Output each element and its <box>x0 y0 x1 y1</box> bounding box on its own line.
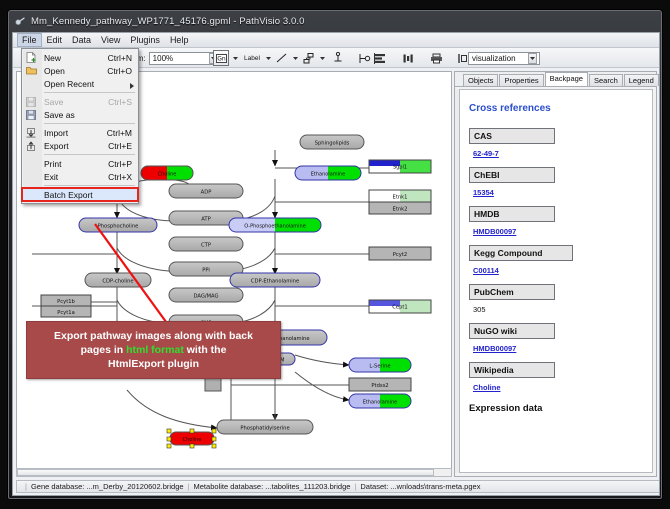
tab-backpage[interactable]: Backpage <box>545 72 588 86</box>
label-dropdown-icon[interactable] <box>265 52 272 64</box>
menu-item-export[interactable]: Export Ctrl+E <box>22 139 138 152</box>
tab-objects[interactable]: Objects <box>463 74 498 86</box>
status-bar: | Gene database: ...m_Derby_20120602.bri… <box>16 480 660 493</box>
canvas-hscrollbar[interactable] <box>16 468 452 477</box>
export-icon <box>25 140 37 151</box>
chevron-right-icon <box>130 81 134 91</box>
line-tool-icon[interactable] <box>275 51 289 65</box>
zoom-combo[interactable]: 100% <box>149 52 221 65</box>
menu-item-export-label: Export <box>44 141 108 151</box>
selection-handles: Choline <box>167 429 216 448</box>
menu-item-save-accel: Ctrl+S <box>108 97 138 107</box>
menu-item-export-accel: Ctrl+E <box>108 141 138 151</box>
menu-item-batch-export[interactable]: Batch Export <box>22 188 138 201</box>
svg-text:CTP: CTP <box>201 243 211 249</box>
gene-cept1: Cept1 <box>369 300 431 313</box>
svg-text:Phosphocholine: Phosphocholine <box>98 224 139 230</box>
gene-sgpl1: Sgpl1 <box>369 160 431 173</box>
xref-head-kegg-compound: Kegg Compound <box>469 245 573 261</box>
callout-line-2: pages in html format with the <box>81 343 227 357</box>
menu-data[interactable]: Data <box>67 33 96 47</box>
screenshot-root: Mm_Kennedy_pathway_WP1771_45176.gpml - P… <box>0 0 670 509</box>
svg-text:Ethanolamine: Ethanolamine <box>311 172 346 178</box>
menu-item-save: Save Ctrl+S <box>22 95 138 108</box>
svg-text:Phosphatidylserine: Phosphatidylserine <box>240 426 289 432</box>
menu-plugins[interactable]: Plugins <box>125 33 165 47</box>
svg-text:Sphingolipids: Sphingolipids <box>315 141 350 147</box>
menu-item-exit-accel: Ctrl+X <box>108 172 138 182</box>
backpage-content: Cross references CAS 62-49-7 ChEBI 15354… <box>469 96 648 414</box>
menu-item-save-as-label: Save as <box>44 110 132 120</box>
xref-link-wikipedia[interactable]: Choline <box>473 383 501 392</box>
cross-references-title: Cross references <box>469 103 648 114</box>
application-window: Mm_Kennedy_pathway_WP1771_45176.gpml - P… <box>8 10 662 499</box>
xref-head-hmdb: HMDB <box>469 206 555 222</box>
node-sphingolipids: Sphingolipids <box>300 135 364 149</box>
node-cdp-ethanolamine: CDP-Ethanolamine <box>230 273 320 287</box>
node-ppi: PPi <box>169 262 243 276</box>
state-tool-icon[interactable] <box>357 51 371 65</box>
save-disk-icon <box>25 96 37 107</box>
svg-text:DAG/MAG: DAG/MAG <box>193 294 218 300</box>
status-divider: | <box>188 482 190 491</box>
print-tool-icon[interactable] <box>429 51 443 65</box>
xref-link-kegg-compound[interactable]: C00114 <box>473 266 499 275</box>
node-o-phosphoethanolamine: O-Phosphoethanolamine <box>229 218 321 232</box>
svg-text:Gn: Gn <box>217 55 226 62</box>
align-tool-icon[interactable] <box>373 51 387 65</box>
gene-etnk2: Etnk2 <box>369 202 431 214</box>
menu-bar: File Edit Data View Plugins Help <box>13 33 659 48</box>
menu-item-open-label: Open <box>44 66 107 76</box>
menu-separator <box>44 154 135 155</box>
file-menu-popup[interactable]: New Ctrl+N Open Ctrl+O Open Recent <box>21 48 139 204</box>
save-as-icon <box>25 109 37 120</box>
callout-highlight: html format <box>126 344 184 356</box>
menu-item-import[interactable]: Import Ctrl+M <box>22 126 138 139</box>
svg-text:O-Phosphoethanolamine: O-Phosphoethanolamine <box>244 224 306 230</box>
interaction-tool-icon[interactable] <box>302 51 316 65</box>
xref-link-hmdb[interactable]: HMDB00097 <box>473 227 516 236</box>
svg-text:Pcyt1a: Pcyt1a <box>57 310 75 316</box>
annotation-callout: Export pathway images along with back pa… <box>26 321 281 379</box>
status-dataset: Dataset: ...wnloads\trans-meta.pgex <box>360 482 480 491</box>
svg-text:PPi: PPi <box>202 268 210 274</box>
status-metabolite-database: Metabolite database: ...tabolites_111203… <box>194 482 351 491</box>
backpage-panel: Cross references CAS 62-49-7 ChEBI 15354… <box>459 89 653 473</box>
tab-properties[interactable]: Properties <box>499 74 543 86</box>
menu-item-new-label: New <box>44 53 108 63</box>
xref-value-pubchem: 305 <box>473 305 486 314</box>
zoom-value: 100% <box>153 54 173 63</box>
svg-text:Ethanolamine: Ethanolamine <box>363 400 398 406</box>
xref-link-nugo-wiki[interactable]: HMDB00097 <box>473 344 516 353</box>
menu-item-new-accel: Ctrl+N <box>108 53 138 63</box>
svg-text:Etnk1: Etnk1 <box>393 195 408 201</box>
menu-item-open-accel: Ctrl+O <box>107 66 138 76</box>
node-phosphocholine: Phosphocholine <box>79 218 157 232</box>
menu-file[interactable]: File <box>17 33 42 47</box>
xref-head-wikipedia: Wikipedia <box>469 362 555 378</box>
node-adp: ADP <box>169 184 243 198</box>
menu-item-exit-label: Exit <box>44 172 108 182</box>
svg-text:Choline: Choline <box>158 172 177 178</box>
svg-text:Sgpl1: Sgpl1 <box>393 165 407 171</box>
canvas-hscroll-thumb[interactable] <box>17 469 434 476</box>
xref-head-cas: CAS <box>469 128 555 144</box>
menu-item-exit[interactable]: Exit Ctrl+X <box>22 170 138 183</box>
new-file-icon <box>25 52 37 63</box>
expression-data-title: Expression data <box>469 403 648 414</box>
menu-item-print-label: Print <box>44 159 108 169</box>
tab-legend[interactable]: Legend <box>624 74 659 86</box>
import-icon <box>25 127 37 138</box>
node-phosphatidylserine: Phosphatidylserine <box>217 420 313 434</box>
tab-search[interactable]: Search <box>589 74 623 86</box>
menu-separator <box>44 123 135 124</box>
svg-text:Pcyt1b: Pcyt1b <box>57 299 75 305</box>
xref-head-nugo-wiki: NuGO wiki <box>469 323 555 339</box>
svg-text:Etnk2: Etnk2 <box>393 207 408 213</box>
node-ctp: CTP <box>169 237 243 251</box>
xref-head-chebi: ChEBI <box>469 167 555 183</box>
callout-line-2a: pages in <box>81 344 127 356</box>
menu-help[interactable]: Help <box>165 33 194 47</box>
open-folder-icon <box>25 65 37 76</box>
menu-view[interactable]: View <box>96 33 125 47</box>
node-l-serine: L-Serine <box>349 358 411 372</box>
interaction-dropdown-icon[interactable] <box>319 52 326 64</box>
callout-line-2b: with the <box>184 344 227 356</box>
svg-text:CDP-choline: CDP-choline <box>102 279 133 285</box>
menu-item-print-accel: Ctrl+P <box>108 159 138 169</box>
svg-text:CDP-Ethanolamine: CDP-Ethanolamine <box>251 279 299 285</box>
svg-text:ADP: ADP <box>201 190 212 196</box>
callout-line-3: HtmlExport plugin <box>108 357 199 371</box>
client-area: File Edit Data View Plugins Help Zoom: 1… <box>12 32 660 496</box>
gene-pcyt1a: Pcyt1a <box>41 306 91 317</box>
menu-item-import-accel: Ctrl+M <box>107 128 138 138</box>
status-divider: | <box>25 482 27 491</box>
sidebar-tabstrip: Objects Properties Backpage Search Legen… <box>455 72 656 87</box>
menu-item-save-as[interactable]: Save as <box>22 108 138 121</box>
status-gene-database: Gene database: ...m_Derby_20120602.bridg… <box>31 482 184 491</box>
window-title: Mm_Kennedy_pathway_WP1771_45176.gpml - P… <box>31 16 305 27</box>
xref-head-pubchem: PubChem <box>469 284 555 300</box>
node-cdp-choline: CDP-choline <box>85 273 151 287</box>
menu-item-open-recent[interactable]: Open Recent <box>22 77 138 90</box>
node-dag-mag: DAG/MAG <box>169 288 243 302</box>
title-bar: Mm_Kennedy_pathway_WP1771_45176.gpml - P… <box>9 11 661 32</box>
node-ptdss2: Ptdss2 <box>349 378 411 391</box>
chevron-down-icon[interactable] <box>528 53 537 64</box>
menu-item-print[interactable]: Print Ctrl+P <box>22 157 138 170</box>
menu-item-save-label: Save <box>44 97 108 107</box>
menu-separator <box>44 185 135 186</box>
svg-text:L-Serine: L-Serine <box>369 364 390 370</box>
svg-text:Choline: Choline <box>183 437 202 443</box>
callout-line-1: Export pathway images along with back <box>54 329 253 343</box>
gene-pcyt1b: Pcyt1b <box>41 295 91 306</box>
menu-item-open-recent-label: Open Recent <box>44 79 138 89</box>
xref-link-cas[interactable]: 62-49-7 <box>473 149 499 158</box>
stack-tool-icon[interactable] <box>401 51 415 65</box>
menu-item-batch-export-label: Batch Export <box>44 190 138 200</box>
menu-separator <box>44 92 135 93</box>
menu-item-import-label: Import <box>44 128 107 138</box>
anchor-tool-icon[interactable] <box>331 51 345 65</box>
svg-text:Cept1: Cept1 <box>392 305 407 311</box>
menu-item-open[interactable]: Open Ctrl+O <box>22 64 138 77</box>
label-tool-button[interactable]: Label <box>242 55 262 62</box>
pathvisio-icon <box>15 16 26 27</box>
right-sidebar: Objects Properties Backpage Search Legen… <box>454 71 657 477</box>
geneproduct-tool-icon[interactable]: Gn <box>213 50 229 66</box>
line-dropdown-icon[interactable] <box>292 52 299 64</box>
visualization-combo[interactable]: visualization <box>468 52 540 65</box>
node-ethanolamine-bottom: Ethanolamine <box>349 394 411 408</box>
menu-edit[interactable]: Edit <box>42 33 68 47</box>
gene-pcyt2: Pcyt2 <box>369 247 431 260</box>
xref-link-chebi[interactable]: 15354 <box>473 188 494 197</box>
status-divider: | <box>354 482 356 491</box>
menu-item-new[interactable]: New Ctrl+N <box>22 51 138 64</box>
geneproduct-dropdown-icon[interactable] <box>232 52 239 64</box>
svg-text:ATP: ATP <box>201 217 210 223</box>
node-choline: Choline <box>141 166 193 180</box>
svg-text:Ptdss2: Ptdss2 <box>371 383 388 389</box>
gene-etnk1: Etnk1 <box>369 190 431 202</box>
svg-text:Pcyt2: Pcyt2 <box>393 252 407 258</box>
visualization-value: visualization <box>472 54 516 63</box>
node-ethanolamine-top: Ethanolamine <box>295 166 361 180</box>
